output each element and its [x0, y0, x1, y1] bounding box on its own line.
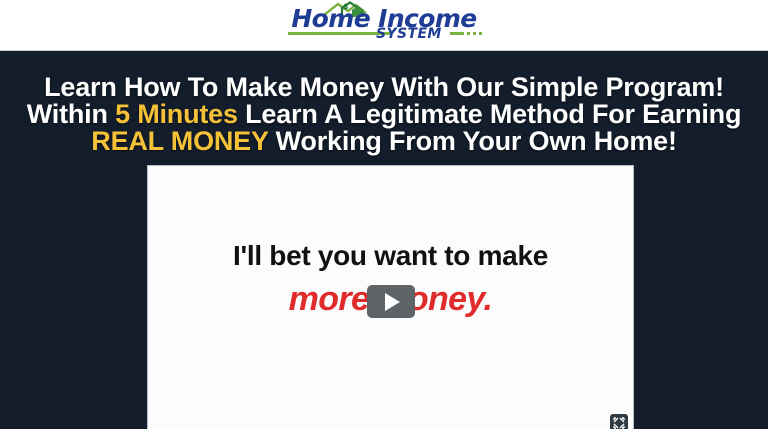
headline-line-2: Within 5 Minutes Learn A Legitimate Meth…	[0, 101, 768, 128]
logo-rule-right	[450, 32, 464, 35]
headline-line-3-part-2: Working From Your Own Home!	[268, 126, 676, 156]
site-header: $ Home Income SYSTEM	[0, 0, 768, 51]
play-button[interactable]	[367, 285, 415, 318]
headline-line-3: REAL MONEY Working From Your Own Home!	[0, 128, 768, 155]
landing-page: $ Home Income SYSTEM Learn How To Make M…	[0, 0, 768, 429]
play-icon	[385, 293, 400, 311]
headline-highlight-real-money: REAL MONEY	[91, 126, 268, 156]
hero-headline: Learn How To Make Money With Our Simple …	[0, 74, 768, 155]
fullscreen-expand-icon	[613, 417, 625, 429]
fullscreen-button[interactable]	[610, 414, 628, 429]
video-player[interactable]: I'll bet you want to make more money.	[147, 165, 634, 429]
headline-line-2-part-1: Within	[27, 99, 115, 129]
slide-text-line-1: I'll bet you want to make	[148, 240, 633, 272]
logo-subtitle: SYSTEM	[376, 26, 442, 42]
video-slide: I'll bet you want to make more money.	[148, 166, 633, 428]
headline-line-1: Learn How To Make Money With Our Simple …	[0, 74, 768, 101]
site-logo[interactable]: $ Home Income SYSTEM	[284, 3, 484, 47]
headline-highlight-minutes: 5 Minutes	[115, 99, 238, 129]
logo-dots	[467, 32, 482, 35]
headline-line-2-part-2: Learn A Legitimate Method For Earning	[238, 99, 741, 129]
